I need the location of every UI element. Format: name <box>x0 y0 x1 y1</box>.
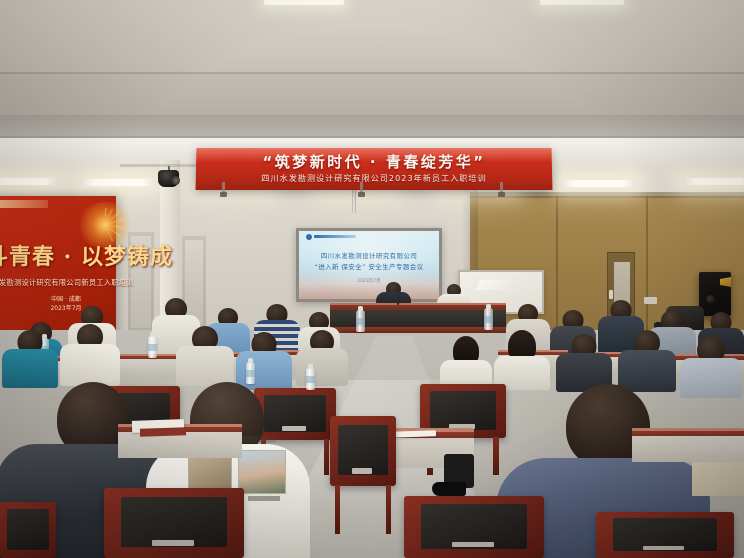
notebook-cover <box>140 427 186 437</box>
water-bottle[interactable] <box>246 362 255 384</box>
water-bottle[interactable] <box>356 310 365 332</box>
tshirt-text-bottom <box>248 496 280 501</box>
banner-subtitle: 四川水发勘测设计研究有限公司2023年新员工入职培训 <box>196 173 553 184</box>
attendee-with-glasses <box>680 336 742 398</box>
ceiling-led-strip-2 <box>80 179 156 186</box>
desk <box>632 428 744 462</box>
attendee <box>2 330 58 388</box>
poster-subline: 川水发勘测设计研究有限公司新员工入职培训 <box>0 278 112 288</box>
ceiling-led-strip-1 <box>0 178 58 185</box>
attendee <box>236 332 292 390</box>
chair[interactable] <box>330 416 396 486</box>
water-bottle[interactable] <box>148 336 157 358</box>
banner-clip-left <box>220 192 227 197</box>
chair[interactable] <box>104 488 244 558</box>
water-bottle[interactable] <box>484 308 493 330</box>
slide-logo-wordmark <box>314 235 356 238</box>
banner-clip-right <box>498 192 505 197</box>
chair[interactable] <box>596 512 734 558</box>
slide-footer: 2023年7月 <box>299 278 439 284</box>
ceiling-light-top-2 <box>540 0 624 5</box>
attendee <box>176 326 234 386</box>
ceiling-led-strip-7 <box>682 178 744 185</box>
poster-rays-graphic <box>84 208 126 242</box>
attendee <box>296 330 348 386</box>
poster-headline: 斗青春 · 以梦铸成 <box>0 240 116 274</box>
ceiling-led-strip-6 <box>560 180 636 187</box>
ceiling-upper <box>0 0 744 78</box>
head-table-highlight <box>330 303 506 305</box>
water-bottle[interactable] <box>306 368 315 390</box>
conference-room-photo: “筑梦新时代 · 青春绽芳华” 四川水发勘测设计研究有限公司2023年新员工入职… <box>0 0 744 558</box>
slide-title-line2: “进入新 保安全” 安全生产专题会议 <box>299 261 439 271</box>
tshirt-graphic-right <box>238 450 286 494</box>
chair[interactable] <box>0 502 56 558</box>
chair[interactable] <box>404 496 544 558</box>
whiteboard-glare <box>476 280 513 290</box>
wall-switch-plate[interactable] <box>644 297 657 304</box>
wood-panel-trim <box>470 192 744 198</box>
banner-headline: “筑梦新时代 · 青春绽芳华” <box>196 151 552 172</box>
ceiling-mid <box>0 74 744 118</box>
attendee <box>494 330 550 390</box>
slide-title-line1: 四川水发勘测设计研究有限公司 <box>299 250 439 260</box>
poster-company-logo <box>0 200 48 208</box>
spotlight-lens <box>172 176 180 185</box>
speaker-woofer-icon <box>706 295 715 304</box>
slide-logo-icon <box>306 234 312 240</box>
banner-clip-mid <box>358 192 365 197</box>
poster-place: 中国 · 成都 <box>16 294 116 303</box>
shoe-icon <box>432 482 466 496</box>
attendee <box>618 330 676 392</box>
right-door-handle[interactable] <box>609 290 613 299</box>
ceiling-light-top-1 <box>264 0 344 5</box>
attendee <box>60 324 120 386</box>
overhead-red-banner: “筑梦新时代 · 青春绽芳华” 四川水发勘测设计研究有限公司2023年新员工入职… <box>196 148 553 190</box>
